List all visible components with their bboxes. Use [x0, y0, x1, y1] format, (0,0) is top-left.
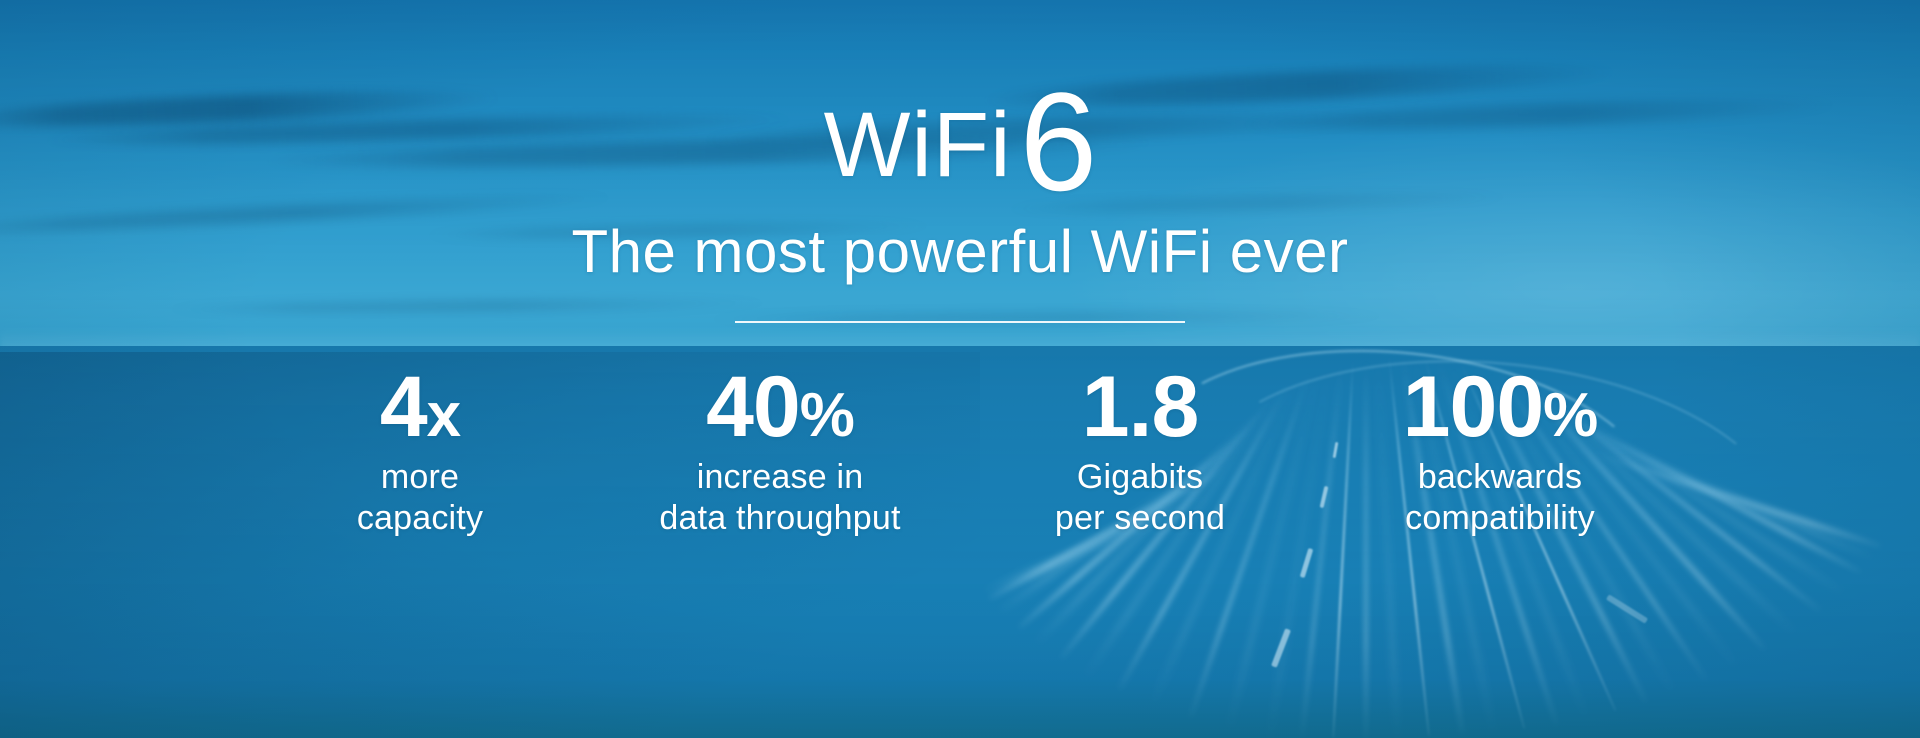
stat-value-main: 100 [1403, 359, 1544, 455]
stat-label: backwards compatibility [1340, 457, 1660, 539]
stat-value-main: 40 [706, 359, 800, 455]
stat-label: increase in data throughput [620, 457, 940, 539]
stat-value: 4x [260, 365, 580, 449]
stat-label: Gigabits per second [980, 457, 1300, 539]
stat-value: 1.8 [980, 365, 1300, 449]
stat-item: 100% backwards compatibility [1340, 365, 1660, 539]
stat-item: 1.8 Gigabits per second [980, 365, 1300, 539]
stat-value-unit: % [1543, 381, 1597, 450]
wifi6-promo-banner: WiFi 6 The most powerful WiFi ever 4x mo… [0, 0, 1920, 738]
stat-value-main: 1.8 [1082, 359, 1199, 455]
stat-value-unit: x [427, 381, 460, 450]
stats-row: 4x more capacity 40% increase in data th… [180, 365, 1740, 539]
stat-value-unit: % [800, 381, 854, 450]
banner-title: WiFi 6 [824, 58, 1097, 198]
banner-content: WiFi 6 The most powerful WiFi ever 4x mo… [0, 0, 1920, 738]
title-divider [735, 321, 1185, 323]
title-number: 6 [1020, 72, 1097, 212]
stat-item: 4x more capacity [260, 365, 580, 539]
stat-value: 100% [1340, 365, 1660, 449]
stat-label: more capacity [260, 457, 580, 539]
title-word: WiFi [824, 99, 1012, 191]
banner-subtitle: The most powerful WiFi ever [571, 220, 1348, 283]
stat-value-main: 4 [380, 359, 427, 455]
stat-item: 40% increase in data throughput [620, 365, 940, 539]
stat-value: 40% [620, 365, 940, 449]
